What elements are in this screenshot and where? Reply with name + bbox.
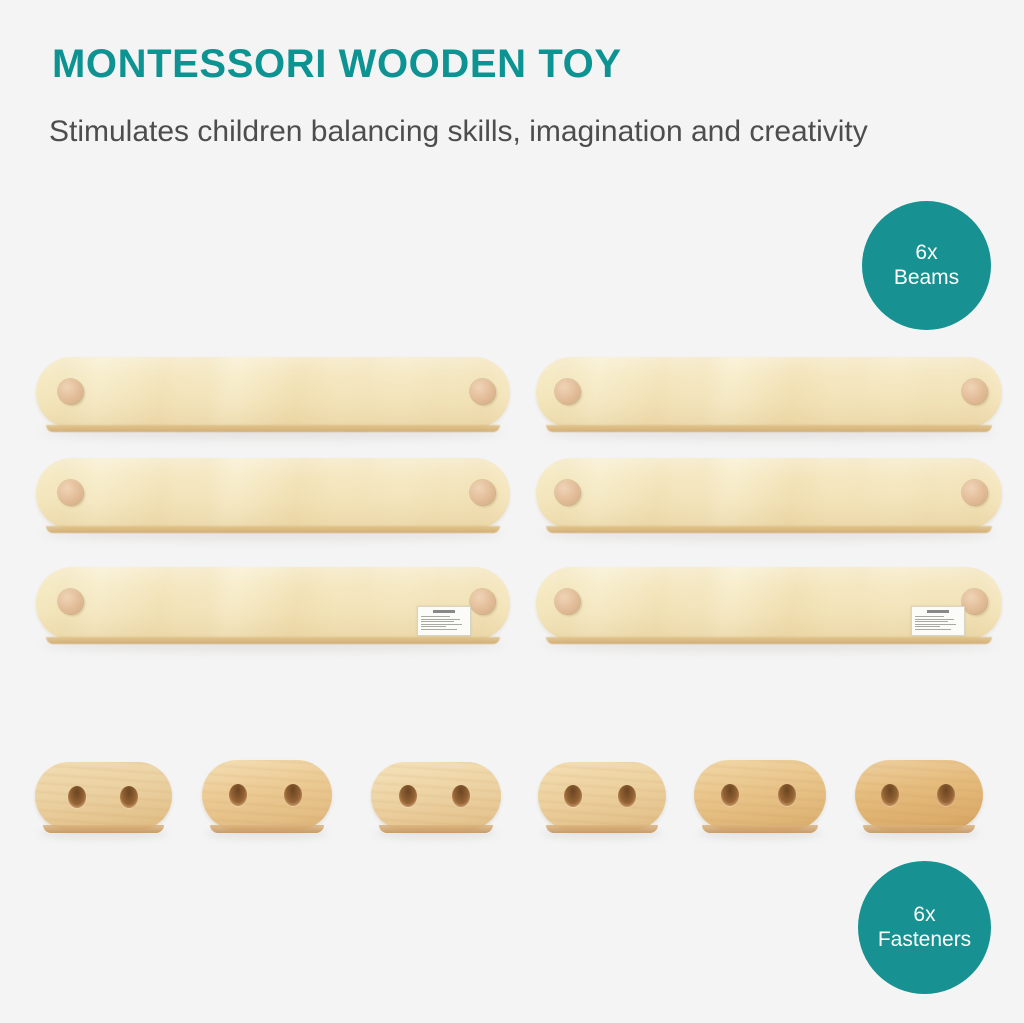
beam-peg-right [470,589,495,614]
beam-grain [36,357,510,428]
fastener-hole-left [399,785,417,807]
beam-1 [36,357,510,428]
fastener-4 [538,762,666,830]
label-logo [433,610,455,613]
product-infographic: MONTESSORI WOODEN TOY Stimulates childre… [0,0,1024,1023]
fastener-3 [371,762,501,830]
beam-peg-right [962,480,987,505]
fastener-edge [863,825,975,833]
beam-peg-right [962,589,987,614]
fastener-1 [35,762,172,830]
fastener-hole-left [564,785,582,807]
badge-fasteners-label: Fasteners [878,928,971,953]
beam-4 [536,458,1002,529]
beam-edge [546,526,992,533]
product-label-sticker [911,606,965,636]
beam-edge [46,526,500,533]
fastener-hole-right [618,785,636,807]
beam-peg-left [58,379,83,404]
beam-peg-left [58,480,83,505]
page-subtitle: Stimulates children balancing skills, im… [49,112,909,152]
fastener-edge [546,825,658,833]
fastener-hole-left [721,784,739,806]
fastener-grain [371,762,501,830]
beam-6 [536,567,1002,640]
fastener-hole-right [778,784,796,806]
beam-edge [546,637,992,644]
fastener-hole-left [68,786,86,808]
fastener-hole-right [937,784,955,806]
fastener-edge [379,825,493,833]
fastener-hole-right [120,786,138,808]
fastener-6 [855,760,983,830]
badge-beams-count: 6x [915,241,937,266]
beam-peg-right [962,379,987,404]
label-logo [927,610,949,613]
label-text-lines [421,616,467,632]
beam-peg-right [470,480,495,505]
fastener-grain [694,760,826,830]
fastener-grain [35,762,172,830]
fastener-grain [202,760,332,830]
beam-edge [46,637,500,644]
fastener-grain [855,760,983,830]
beam-peg-left [555,589,580,614]
beam-grain [36,458,510,529]
beam-peg-left [555,379,580,404]
beam-grain [536,357,1002,428]
beam-3 [36,458,510,529]
beam-peg-left [555,480,580,505]
beam-2 [536,357,1002,428]
fastener-edge [702,825,818,833]
fastener-hole-left [881,784,899,806]
product-label-sticker [417,606,471,636]
fastener-5 [694,760,826,830]
beam-grain [536,458,1002,529]
beam-peg-left [58,589,83,614]
badge-beams-label: Beams [894,266,959,291]
badge-fasteners: 6x Fasteners [858,861,991,994]
fastener-hole-right [284,784,302,806]
beam-edge [46,425,500,432]
fastener-edge [210,825,324,833]
badge-fasteners-count: 6x [913,903,935,928]
fastener-hole-left [229,784,247,806]
fastener-hole-right [452,785,470,807]
fastener-grain [538,762,666,830]
badge-beams: 6x Beams [862,201,991,330]
fastener-edge [43,825,164,833]
page-title: MONTESSORI WOODEN TOY [52,44,622,84]
label-text-lines [915,616,961,632]
beam-edge [546,425,992,432]
beam-peg-right [470,379,495,404]
beam-5 [36,567,510,640]
fastener-2 [202,760,332,830]
